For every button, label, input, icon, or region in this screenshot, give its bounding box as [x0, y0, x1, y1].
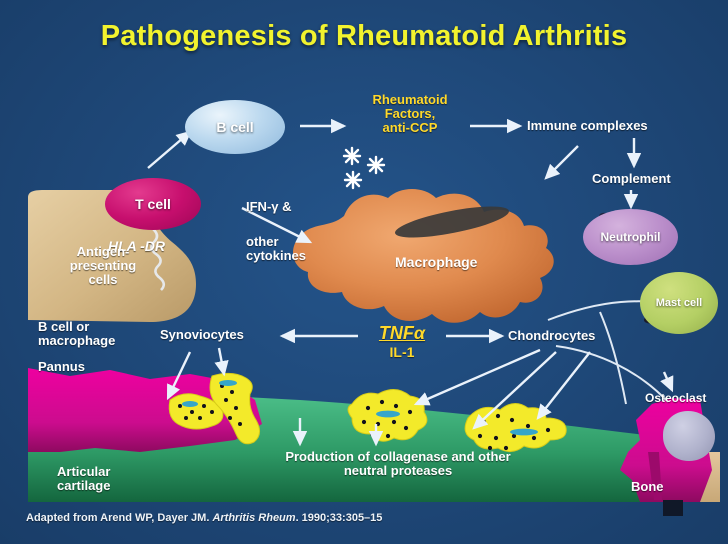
mast-cell-label: Mast cell — [656, 297, 702, 309]
antigen-presenting-cells-label: Antigen- presenting cells — [53, 245, 153, 287]
citation-prefix: Adapted from Arend WP, Dayer JM. — [26, 512, 209, 524]
citation-suffix: . 1990;33:305–15 — [296, 512, 383, 524]
cell-t-cell: T cell — [105, 178, 201, 230]
tnf-alpha-label: TNFα — [363, 324, 441, 343]
production-of-collagenase-label: Production of collagenase and other neut… — [268, 450, 528, 478]
bone-label: Bone — [631, 480, 664, 494]
rheumatoid-factors-label: Rheumatoid Factors, anti-CCP — [350, 93, 470, 135]
macrophage-label: Macrophage — [395, 255, 477, 270]
t-cell-label: T cell — [135, 196, 171, 212]
osteoclast-label: Osteoclast — [645, 392, 706, 405]
slide-canvas: Pathogenesis of Rheumatoid Arthritis — [0, 0, 728, 544]
immune-complexes-label: Immune complexes — [527, 119, 648, 133]
il-1-label: IL-1 — [363, 345, 441, 360]
pannus-label: Pannus — [38, 360, 85, 374]
other-cytokines-label: other cytokines — [246, 235, 306, 263]
citation-journal: Arthritis Rheum — [212, 512, 295, 524]
cell-neutrophil: Neutrophil — [583, 209, 678, 265]
complement-label: Complement — [592, 172, 671, 186]
cell-osteoclast — [663, 411, 715, 461]
chondrocytes-label: Chondrocytes — [508, 329, 595, 343]
ifn-gamma-label: IFN-γ & — [246, 200, 292, 214]
synoviocytes-label: Synoviocytes — [160, 328, 244, 342]
b-cell-or-macrophage-label: B cell or macrophage — [38, 320, 148, 348]
articular-cartilage-label: Articular cartilage — [57, 465, 137, 493]
b-cell-label: B cell — [216, 119, 253, 135]
cell-b-cell: B cell — [185, 100, 285, 154]
citation: Adapted from Arend WP, Dayer JM. Arthrit… — [26, 512, 382, 524]
cell-mast-cell: Mast cell — [640, 272, 718, 334]
neutrophil-label: Neutrophil — [601, 230, 661, 244]
